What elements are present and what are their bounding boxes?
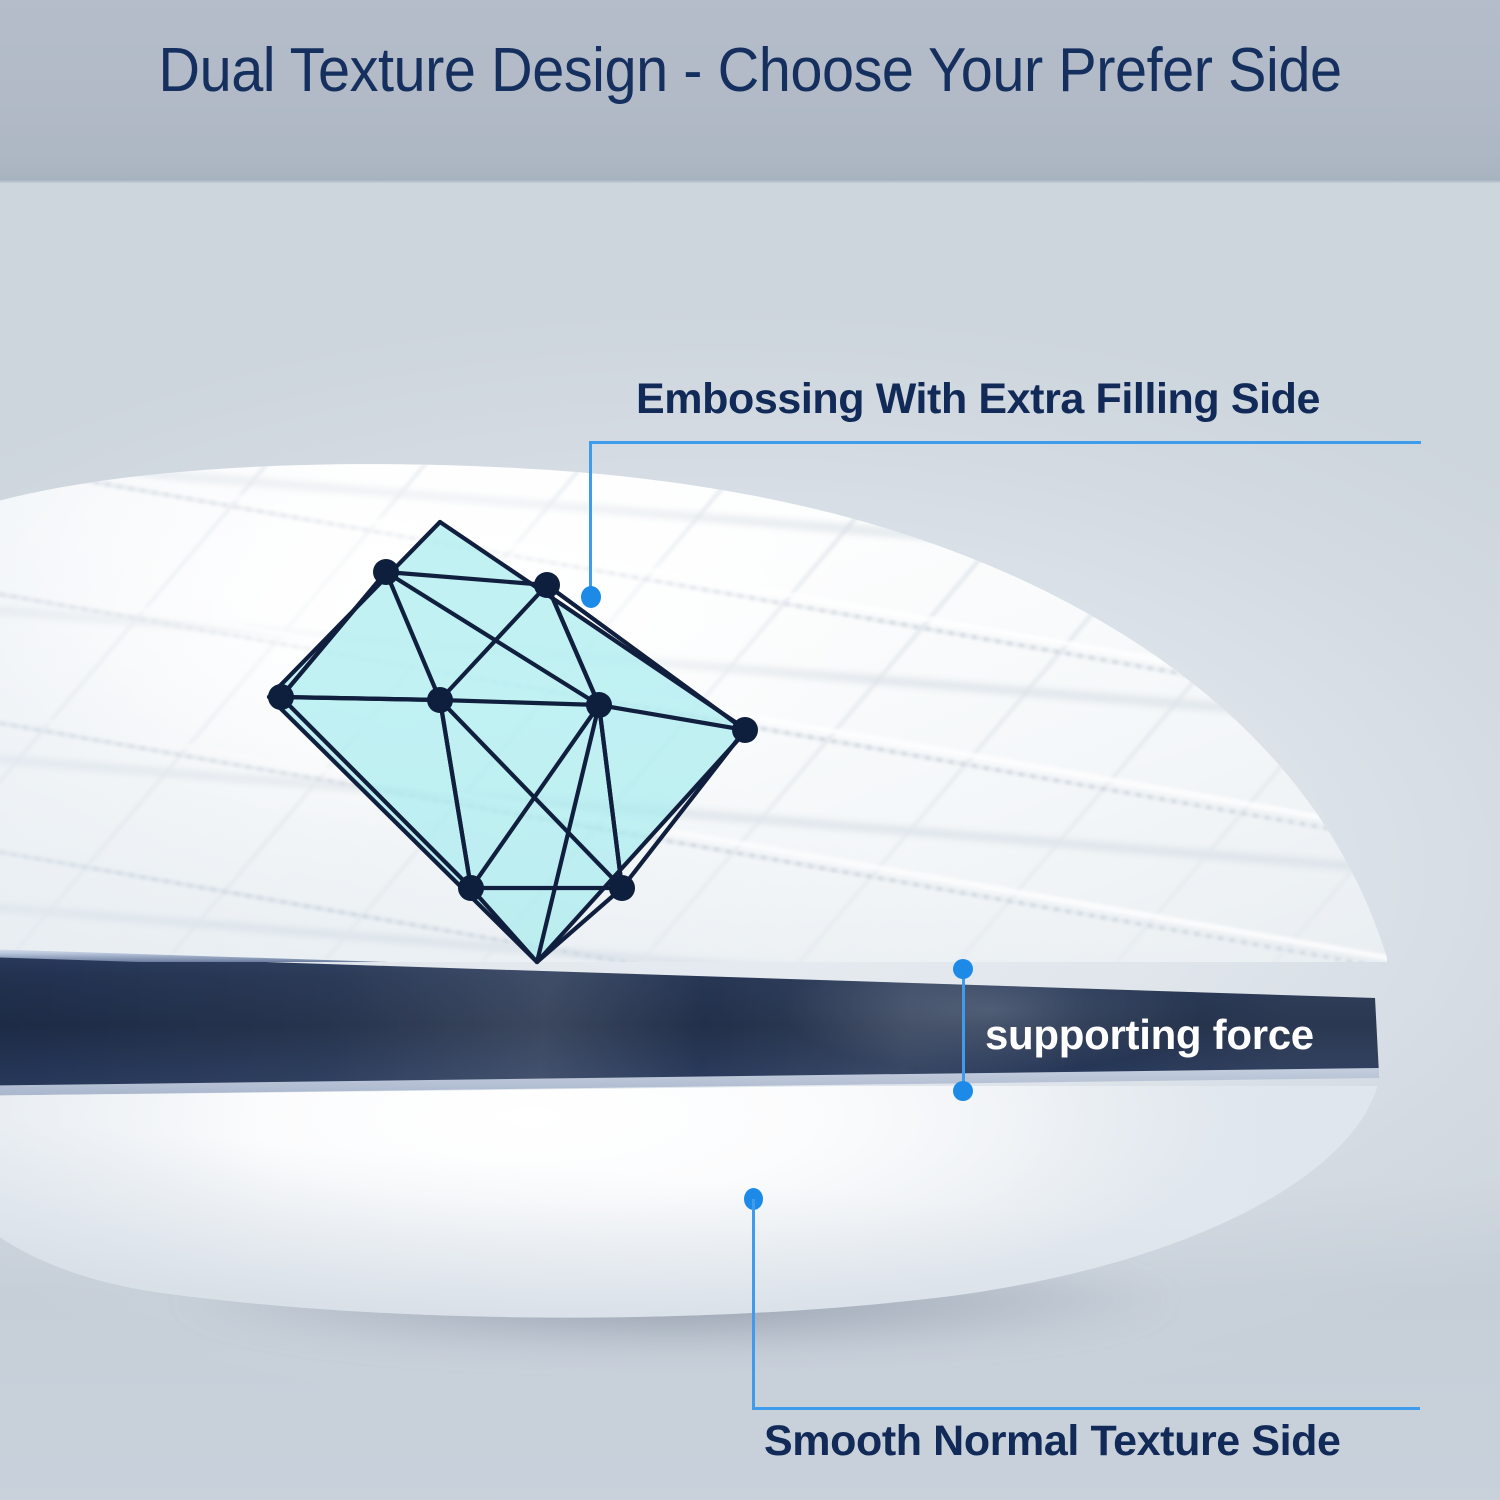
callout-supporting-force-dot-top — [953, 959, 973, 979]
infographic-canvas: Dual Texture Design - Choose Your Prefer… — [0, 0, 1500, 1500]
callout-supporting-force-label: supporting force — [985, 1014, 1314, 1056]
callout-embossing-leader-vertical — [589, 441, 592, 597]
callout-supporting-force-dot-bottom — [953, 1081, 973, 1101]
callout-smooth-side-leader-horizontal — [752, 1407, 1420, 1410]
callout-embossing-dot — [581, 586, 601, 608]
header-banner: Dual Texture Design - Choose Your Prefer… — [0, 0, 1500, 183]
callout-embossing-leader-horizontal — [589, 441, 1421, 444]
callout-embossing-label: Embossing With Extra Filling Side — [636, 378, 1320, 421]
page-title: Dual Texture Design - Choose Your Prefer… — [53, 40, 1448, 102]
callout-smooth-side-leader-vertical — [752, 1199, 755, 1410]
gusset-piping-top — [0, 946, 1385, 962]
callout-supporting-force-leader-vertical — [962, 968, 965, 1092]
callout-smooth-side-label: Smooth Normal Texture Side — [764, 1420, 1341, 1463]
